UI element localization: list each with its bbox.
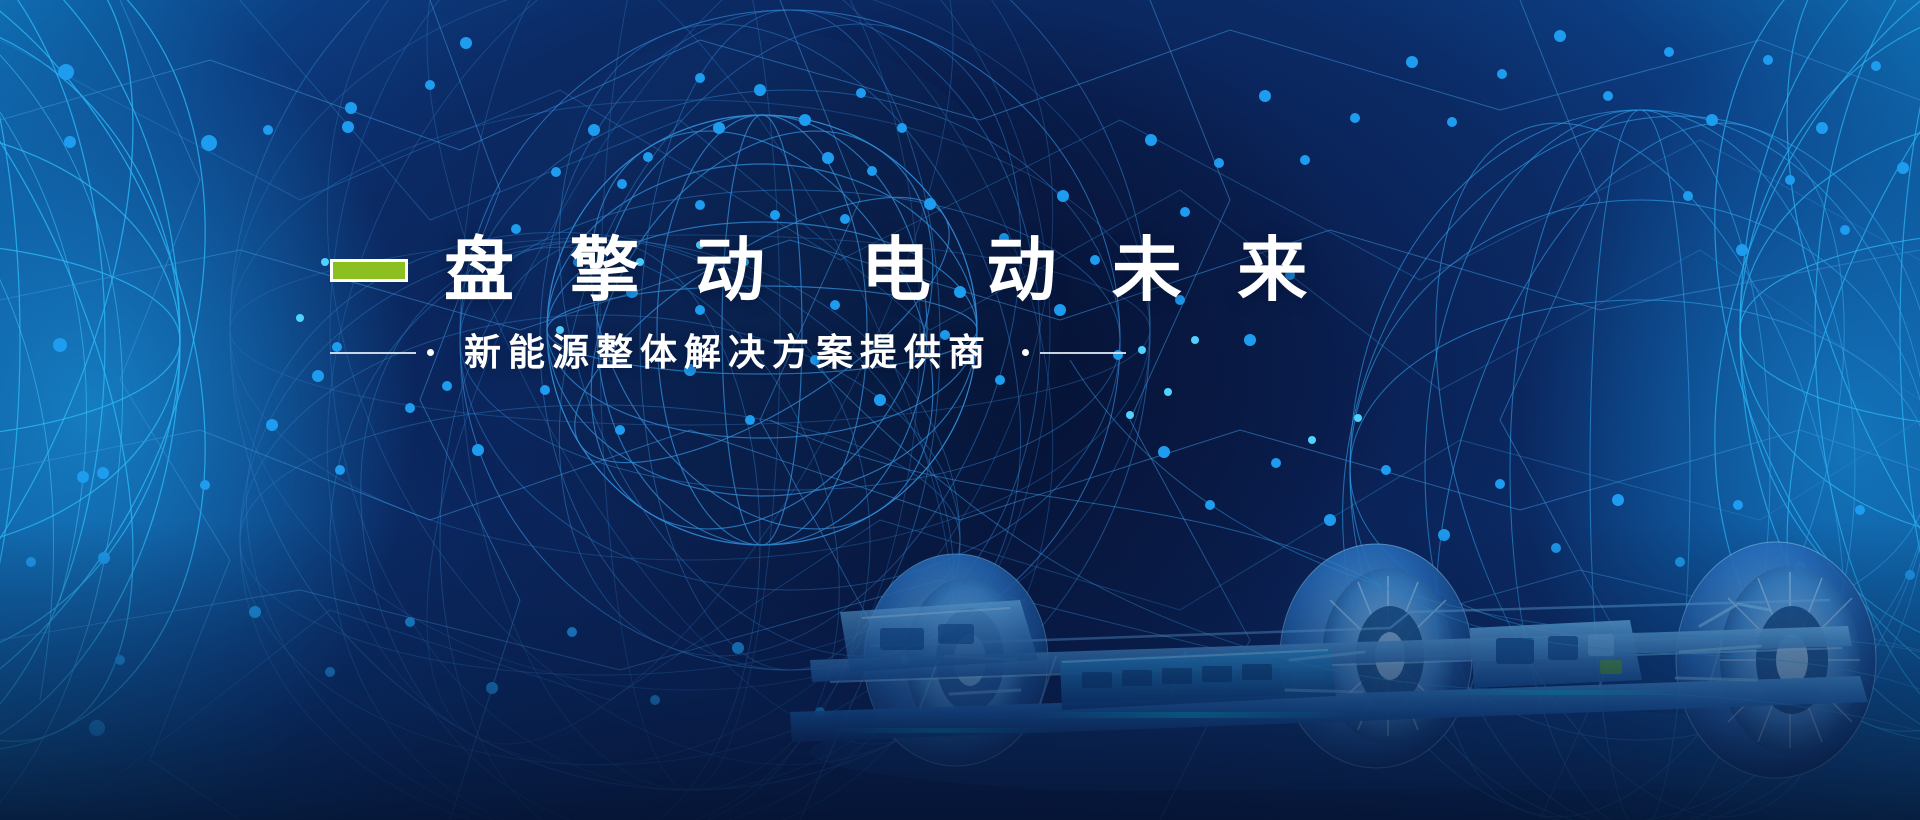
green-dash-accent	[330, 259, 408, 282]
bottom-fade	[0, 520, 1920, 820]
deco-line	[1040, 352, 1126, 354]
deco-dot	[1022, 349, 1029, 356]
subtitle-text: 新能源整体解决方案提供商	[464, 334, 992, 371]
main-title-part-1: 盘 擎 动	[444, 231, 783, 309]
subtitle-right-decoration	[1022, 349, 1126, 356]
deco-dot	[427, 349, 434, 356]
main-title-part-2: 电 动 未 来	[861, 231, 1325, 309]
main-title: 盘 擎 动电 动 未 来	[444, 235, 1325, 305]
deco-line	[330, 352, 416, 354]
title-row: 盘 擎 动电 动 未 来	[330, 232, 1330, 308]
subtitle-left-decoration	[330, 349, 434, 356]
subtitle-row: 新能源整体解决方案提供商	[330, 334, 1330, 371]
hero-banner: 盘 擎 动电 动 未 来 新能源整体解决方案提供商	[0, 0, 1920, 820]
headline-block: 盘 擎 动电 动 未 来 新能源整体解决方案提供商	[330, 232, 1330, 371]
